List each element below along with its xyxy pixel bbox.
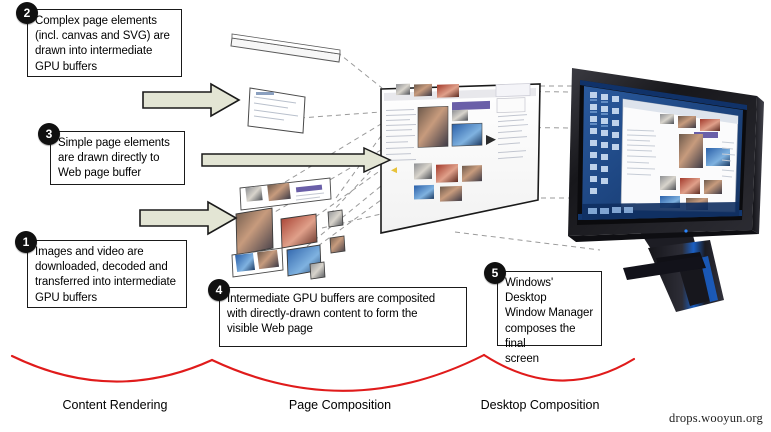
phase-content-rendering: Content Rendering [20, 398, 210, 412]
watermark: drops.wooyun.org [669, 411, 763, 426]
web-page-buffer-panel [381, 83, 540, 233]
phase-desktop-composition: Desktop Composition [440, 398, 640, 412]
arrow-images-video [138, 200, 238, 236]
callout-text: Simple page elements are drawn directly … [51, 132, 184, 185]
callout-intermediate-buffers-composited: Intermediate GPU buffers are composited … [219, 287, 467, 347]
phase-page-composition: Page Composition [245, 398, 435, 412]
callout-text: Images and video are downloaded, decoded… [28, 241, 186, 309]
arrow-complex-elements [141, 82, 241, 118]
callout-complex-page-elements: Complex page elements (incl. canvas and … [27, 9, 182, 77]
callout-badge-2: 2 [16, 2, 38, 24]
image-video-thumbnails [232, 178, 345, 279]
callout-badge-4: 4 [208, 279, 230, 301]
callout-badge-5: 5 [484, 262, 506, 284]
callout-images-video: Images and video are downloaded, decoded… [27, 240, 187, 308]
callout-desktop-window-manager: Windows' Desktop Window Manager composes… [497, 271, 602, 346]
callout-badge-1: 1 [15, 231, 37, 253]
tilted-canvas-panel [248, 88, 305, 133]
callout-text: Intermediate GPU buffers are composited … [220, 288, 466, 341]
arrow-simple-elements [200, 146, 392, 174]
tilted-toolbar-buffer [231, 34, 340, 62]
callout-simple-page-elements: Simple page elements are drawn directly … [50, 131, 185, 185]
callout-text: Complex page elements (incl. canvas and … [28, 10, 181, 78]
diagram-canvas: Complex page elements (incl. canvas and … [0, 0, 771, 432]
callout-text: Windows' Desktop Window Manager composes… [498, 272, 601, 370]
callout-badge-3: 3 [38, 123, 60, 145]
